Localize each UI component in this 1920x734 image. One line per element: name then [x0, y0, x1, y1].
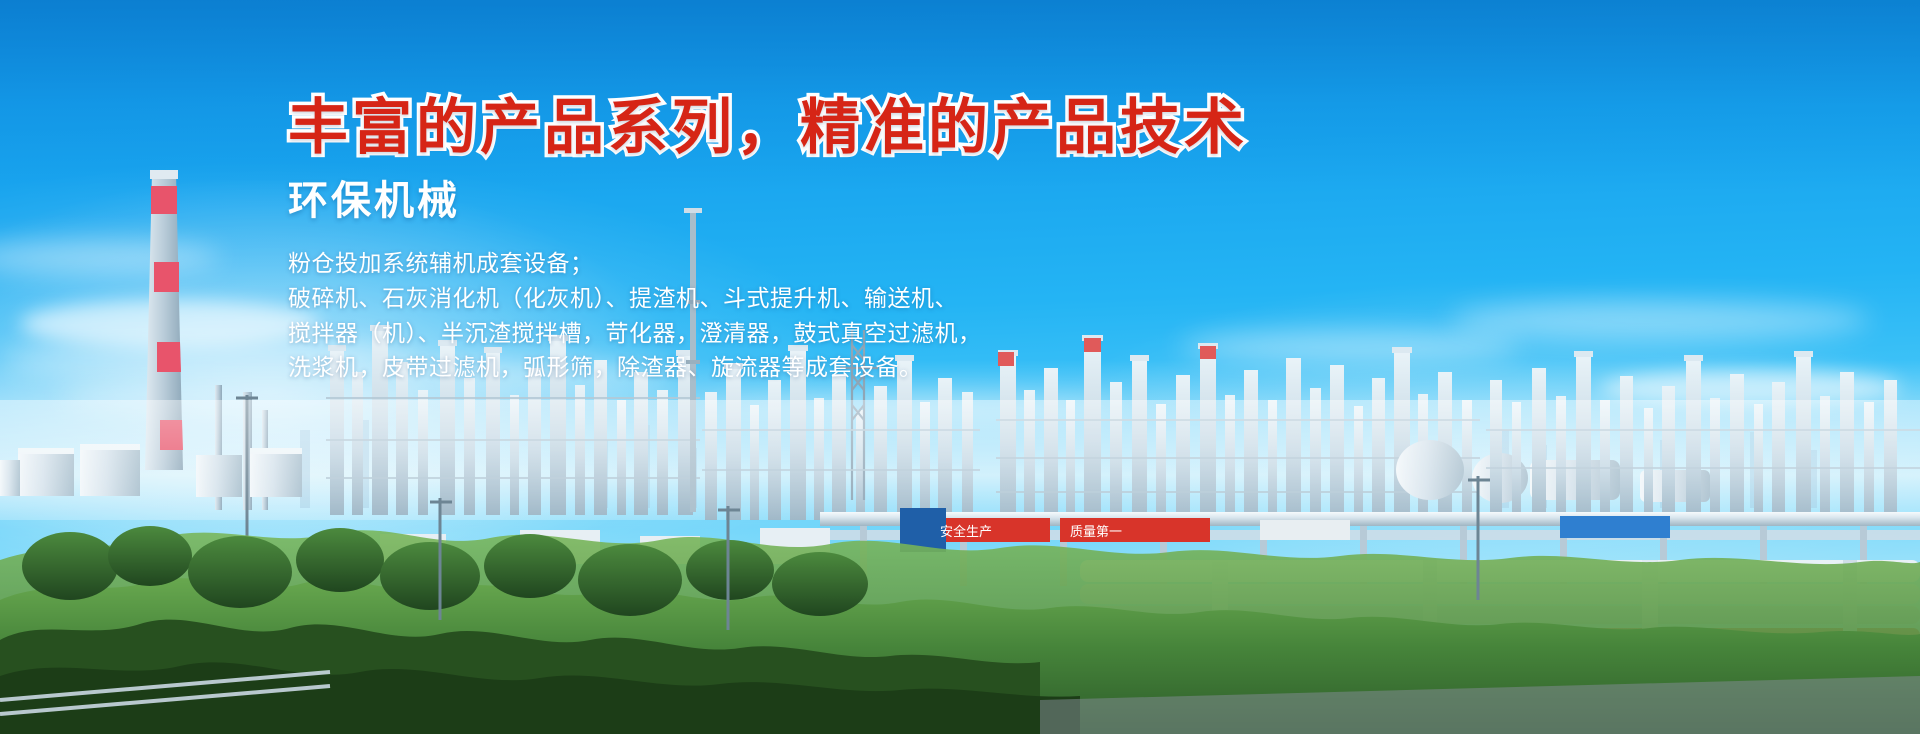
desc-line-2: 破碎机、石灰消化机（化灰机）、提渣机、斗式提升机、输送机、 — [288, 281, 1288, 316]
desc-line-4: 洗浆机，皮带过滤机，弧形筛，除渣器、旋流器等成套设备。 — [288, 350, 1288, 385]
hero-description: 粉仓投加系统辅机成套设备； 破碎机、石灰消化机（化灰机）、提渣机、斗式提升机、输… — [288, 246, 1288, 386]
desc-line-3: 搅拌器（机）、半沉渣搅拌槽，苛化器，澄清器，鼓式真空过滤机， — [288, 316, 1288, 351]
svg-text:质量第一: 质量第一 — [1070, 524, 1122, 539]
hero-subtitle: 环保机械 — [288, 179, 1288, 224]
desc-line-1: 粉仓投加系统辅机成套设备； — [288, 246, 1288, 281]
page-title: 丰富的产品系列，精准的产品技术 — [288, 96, 1288, 161]
hero-banner: 安全生产 质量第一 — [0, 0, 1920, 734]
hero-text-block: 丰富的产品系列，精准的产品技术 环保机械 粉仓投加系统辅机成套设备； 破碎机、石… — [288, 96, 1288, 385]
svg-text:安全生产: 安全生产 — [940, 524, 992, 539]
